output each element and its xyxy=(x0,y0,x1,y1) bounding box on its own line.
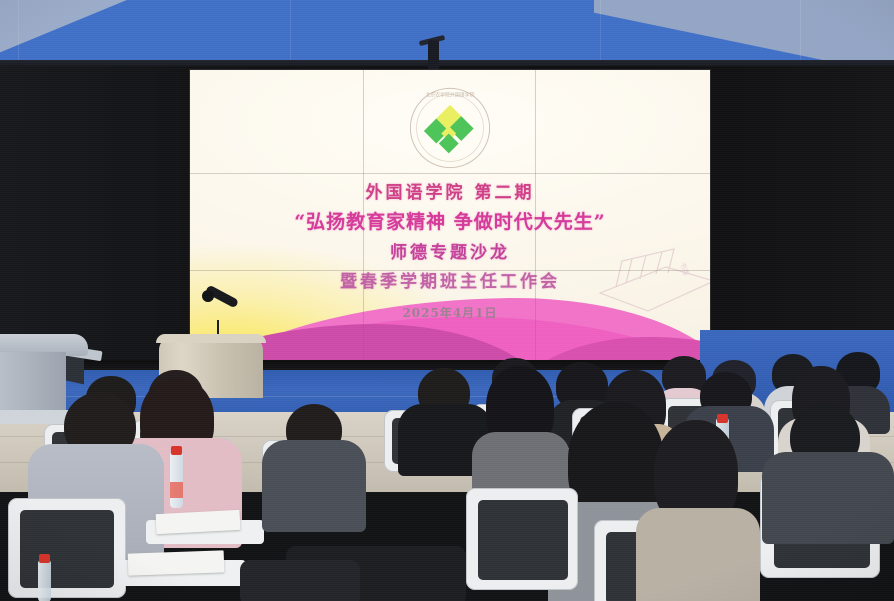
attendee-body xyxy=(240,560,360,601)
attendee-body xyxy=(472,432,570,496)
water-bottle-cap xyxy=(39,554,50,563)
water-bottle-label xyxy=(170,482,183,498)
water-bottle-cap xyxy=(717,414,728,423)
attendee-body xyxy=(636,508,760,601)
document xyxy=(128,550,225,575)
chair-back-pad xyxy=(20,510,114,588)
water-bottle xyxy=(170,452,183,508)
water-bottle xyxy=(38,560,51,601)
attendee-body xyxy=(262,440,366,532)
chair-back-pad xyxy=(478,500,568,580)
conference-hall-photo: 书香 北京农学院外国语学院 xyxy=(0,0,894,601)
audience-area xyxy=(0,0,894,601)
attendee-body xyxy=(762,452,894,544)
water-bottle-cap xyxy=(171,446,182,455)
